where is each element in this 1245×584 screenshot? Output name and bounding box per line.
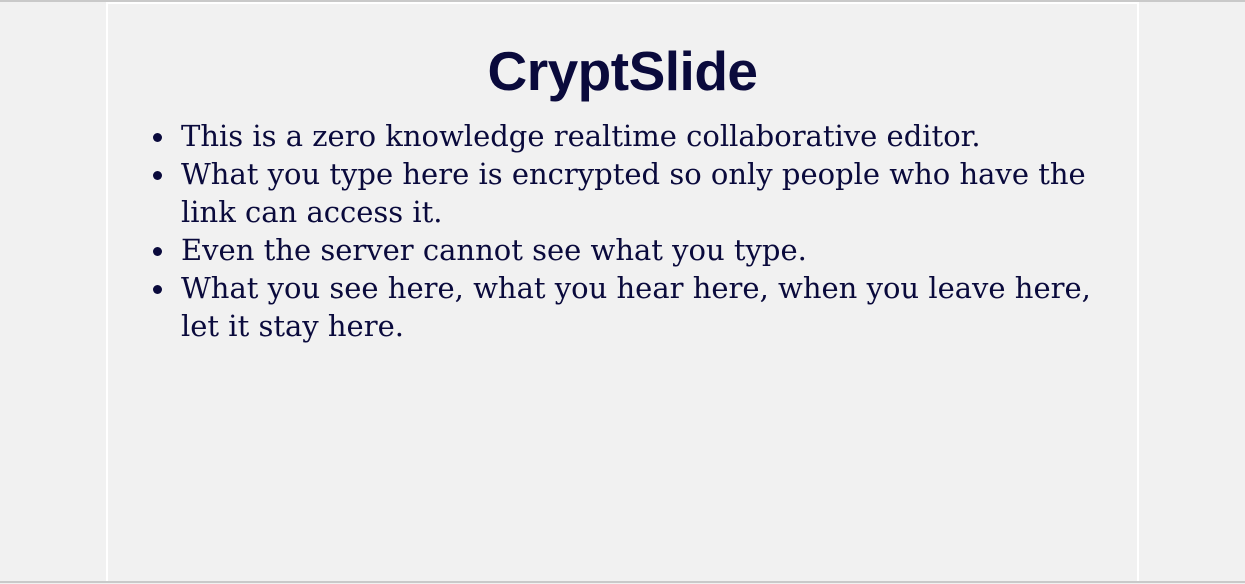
bottom-divider-rule <box>0 581 1245 583</box>
bullet-item-text: This is a zero knowledge realtime collab… <box>181 117 1106 155</box>
bullet-item[interactable]: What you see here, what you hear here, w… <box>146 269 1106 345</box>
slide-bullet-list[interactable]: This is a zero knowledge realtime collab… <box>146 117 1106 345</box>
bullet-item-text: What you type here is encrypted so only … <box>181 155 1106 231</box>
bullet-point-icon <box>153 285 162 294</box>
bullet-item[interactable]: Even the server cannot see what you type… <box>146 231 1106 269</box>
slide-title[interactable]: CryptSlide <box>108 40 1137 102</box>
bullet-point-icon <box>153 247 162 256</box>
bullet-point-icon <box>153 133 162 142</box>
bullet-item-text: Even the server cannot see what you type… <box>181 231 1106 269</box>
slide-viewer: CryptSlide This is a zero knowledge real… <box>0 0 1245 584</box>
bullet-item[interactable]: This is a zero knowledge realtime collab… <box>146 117 1106 155</box>
bullet-item[interactable]: What you type here is encrypted so only … <box>146 155 1106 231</box>
bullet-item-text: What you see here, what you hear here, w… <box>181 269 1106 345</box>
slide-canvas[interactable]: CryptSlide This is a zero knowledge real… <box>106 2 1139 582</box>
bullet-point-icon <box>153 171 162 180</box>
